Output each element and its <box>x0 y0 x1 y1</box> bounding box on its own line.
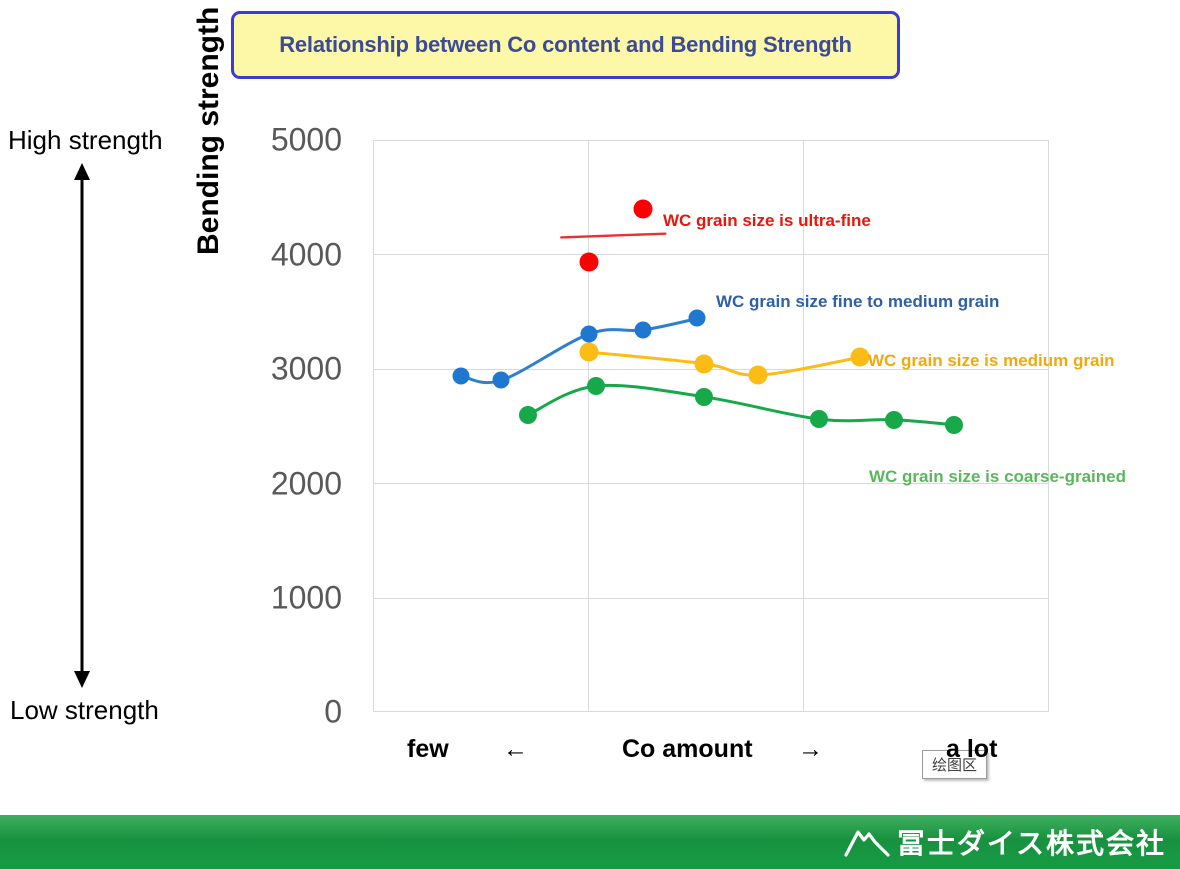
data-point-1-4 <box>689 310 706 327</box>
y-tick-4000: 4000 <box>271 237 342 274</box>
arrow-left-icon: ← <box>503 735 528 764</box>
y-tick-2000: 2000 <box>271 466 342 503</box>
legend-label-fine-to-medium: WC grain size fine to medium grain <box>716 292 999 312</box>
y-tick-1000: 1000 <box>271 580 342 617</box>
x-label-few: few <box>407 735 449 764</box>
x-axis-caption: few ← Co amount → a lot <box>373 735 1049 781</box>
y-tick-5000: 5000 <box>271 122 342 159</box>
y-axis-tick-labels: 5000 4000 3000 2000 1000 0 <box>0 140 360 715</box>
trend-curve-ultra-fine <box>561 234 665 238</box>
page-title: Relationship between Co content and Bend… <box>279 32 852 58</box>
data-point-2-3 <box>850 348 869 367</box>
legend-label-coarse-grained: WC grain size is coarse-grained <box>869 467 1126 487</box>
data-point-3-3 <box>810 410 828 428</box>
footer-company-name: 冨士ダイス株式会社 <box>897 822 1166 862</box>
data-point-2-2 <box>749 366 768 385</box>
data-point-3-0 <box>519 406 537 424</box>
data-point-3-5 <box>945 416 963 434</box>
y-tick-3000: 3000 <box>271 351 342 388</box>
data-point-3-4 <box>885 411 903 429</box>
data-point-1-2 <box>581 325 598 342</box>
data-point-3-2 <box>695 388 713 406</box>
x-label-a-lot: a lot <box>946 735 997 764</box>
data-point-2-1 <box>695 354 714 373</box>
y-tick-0: 0 <box>324 694 342 731</box>
arrow-right-icon: → <box>798 735 823 764</box>
legend-label-ultra-fine: WC grain size is ultra-fine <box>663 211 871 231</box>
title-banner: Relationship between Co content and Bend… <box>231 11 900 79</box>
data-point-1-3 <box>635 321 652 338</box>
data-point-2-0 <box>580 343 599 362</box>
mount-fuji-logo-icon <box>844 827 890 857</box>
data-point-0-1 <box>634 199 653 218</box>
x-axis-title: Co amount <box>622 735 753 764</box>
footer-company-branding: 冨士ダイス株式会社 <box>844 822 1166 862</box>
data-point-3-1 <box>587 377 605 395</box>
legend-label-medium-grain: WC grain size is medium grain <box>868 351 1115 371</box>
data-point-0-0 <box>580 253 599 272</box>
data-point-1-1 <box>493 372 510 389</box>
trend-curve-medium-grain <box>589 352 859 375</box>
footer-bar: 冨士ダイス株式会社 <box>0 815 1180 869</box>
data-point-1-0 <box>452 367 469 384</box>
